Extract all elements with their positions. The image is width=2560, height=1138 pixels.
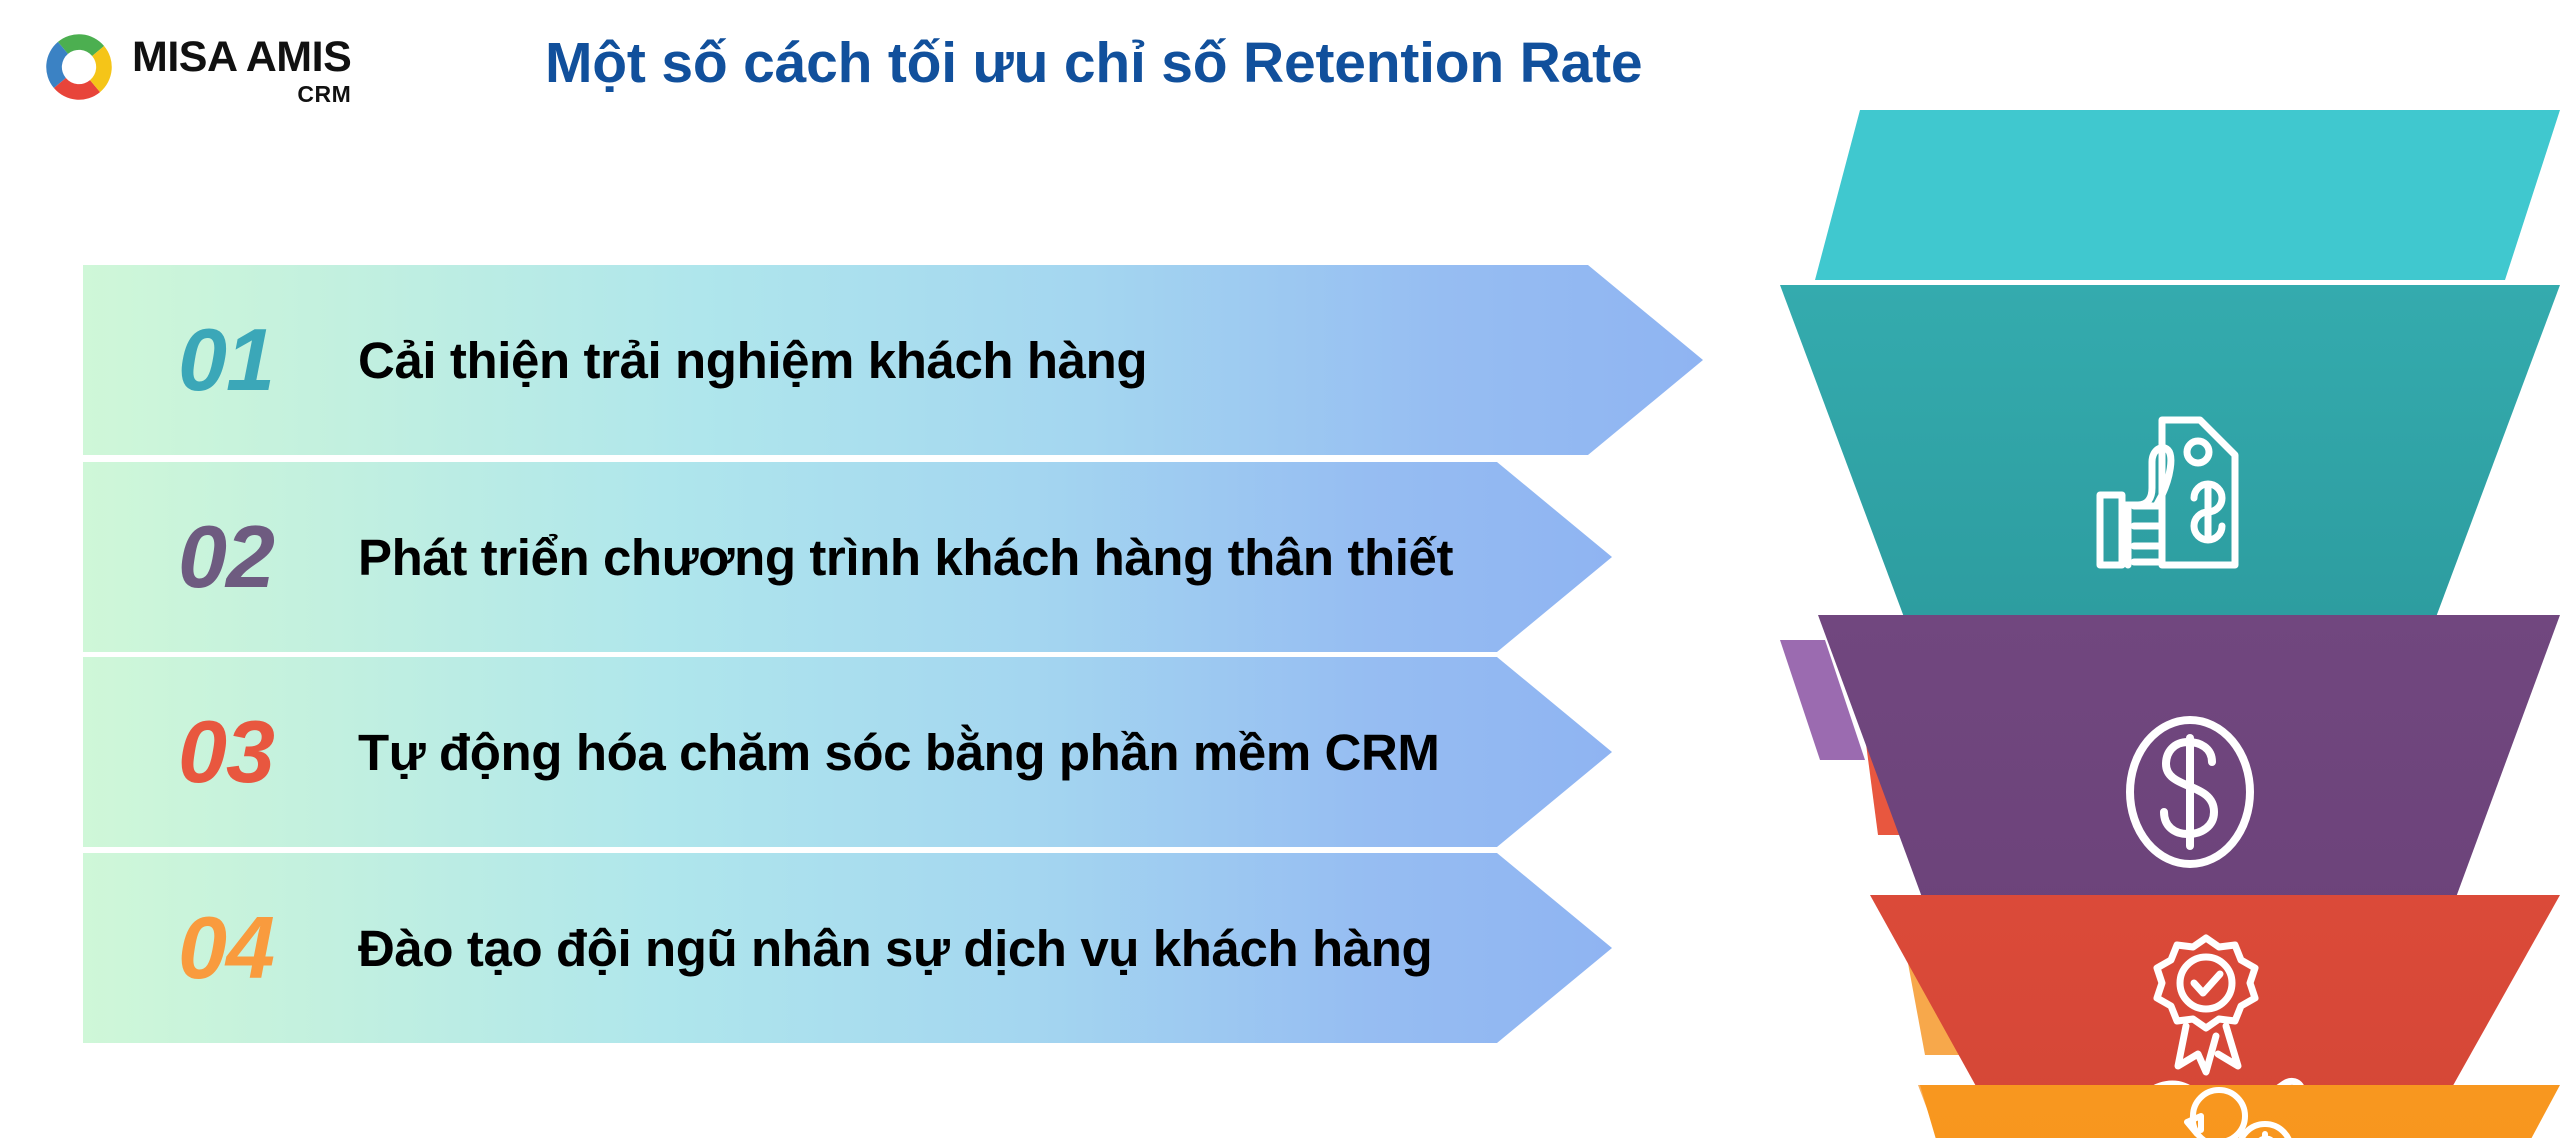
step-label-1: Cải thiện trải nghiệm khách hàng <box>358 331 1147 390</box>
step-number-1: 01 <box>178 316 348 404</box>
infographic-page: MISA AMIS CRM Một số cách tối ưu chỉ số … <box>0 0 2560 1138</box>
steps-list: 01 Cải thiện trải nghiệm khách hàng 02 P… <box>0 0 1800 1138</box>
step-row-3[interactable]: 03 Tự động hóa chăm sóc bằng phần mềm CR… <box>83 657 1612 847</box>
step-label-3: Tự động hóa chăm sóc bằng phần mềm CRM <box>358 723 1439 782</box>
step-number-2: 02 <box>178 513 348 601</box>
step-label-2: Phát triển chương trình khách hàng thân … <box>358 528 1453 587</box>
step-row-4[interactable]: 04 Đào tạo đội ngũ nhân sự dịch vụ khách… <box>83 853 1612 1043</box>
step-number-3: 03 <box>178 708 348 796</box>
step-row-1[interactable]: 01 Cải thiện trải nghiệm khách hàng <box>83 265 1703 455</box>
step-number-4: 04 <box>178 904 348 992</box>
funnel-segment-4[interactable] <box>1918 1085 2560 1138</box>
step-label-4: Đào tạo đội ngũ nhân sự dịch vụ khách hà… <box>358 919 1432 978</box>
step-row-2[interactable]: 02 Phát triển chương trình khách hàng th… <box>83 462 1612 652</box>
funnel-graphic <box>1760 0 2560 1138</box>
funnel-lid <box>1815 110 2560 280</box>
